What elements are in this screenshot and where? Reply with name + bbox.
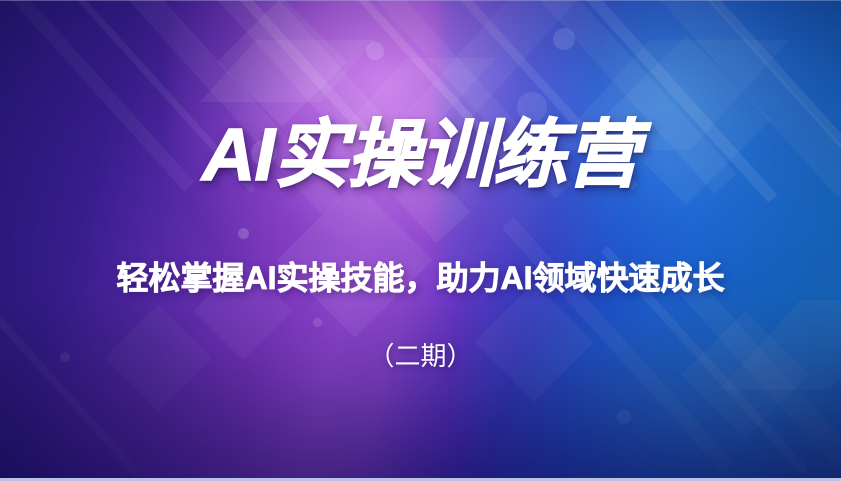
poster-title: AI实操训练营 <box>0 118 841 192</box>
poster-edition: （二期） <box>0 343 841 369</box>
poster-subtitle: 轻松掌握AI实操技能，助力AI领域快速成长 <box>0 262 841 294</box>
circle-5 <box>238 228 249 239</box>
circle-1 <box>366 42 384 60</box>
circle-3 <box>553 28 575 50</box>
circle-7 <box>617 410 631 424</box>
top-border <box>0 0 841 1</box>
circle-8 <box>313 318 322 327</box>
geometric-decoration-layer <box>0 0 841 481</box>
promo-poster: AI实操训练营 轻松掌握AI实操技能，助力AI领域快速成长 （二期） <box>0 0 841 481</box>
